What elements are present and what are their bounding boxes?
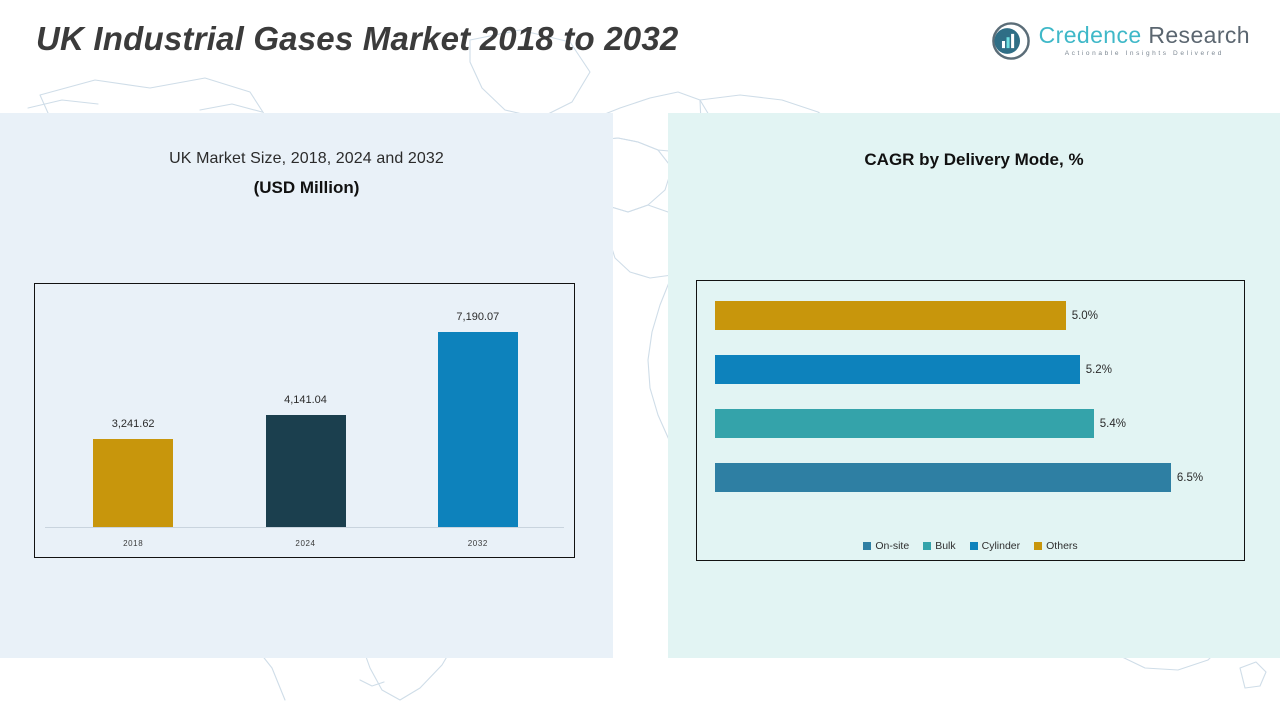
legend-item-on-site[interactable]: On-site [863, 540, 909, 552]
bar-cylinder [715, 355, 1080, 384]
legend-label: Others [1046, 540, 1078, 552]
bar-value-label: 6.5% [1177, 472, 1203, 484]
bar-value-label: 5.4% [1100, 418, 1126, 430]
left-chart-plot-area: 3,241.6220184,141.0420247,190.072032 [35, 284, 574, 557]
bar-value-label: 4,141.04 [284, 394, 327, 406]
bar-row-cylinder: 5.2% [715, 355, 1112, 384]
x-axis-label-2024: 2024 [219, 539, 391, 548]
legend-swatch-icon [923, 542, 931, 550]
bar-bulk [715, 409, 1094, 438]
uk-market-size-chart: 3,241.6220184,141.0420247,190.072032 [34, 283, 575, 558]
left-chart-axis-line [45, 527, 564, 528]
bar-value-label: 5.0% [1072, 310, 1098, 322]
bar-value-label: 3,241.62 [112, 418, 155, 430]
bar-chart-circle-icon [992, 22, 1030, 60]
bar-value-label: 5.2% [1086, 364, 1112, 376]
logo-name-research: Research [1142, 22, 1250, 48]
bar-others [715, 301, 1066, 330]
bar-row-others: 5.0% [715, 301, 1098, 330]
page-title: UK Industrial Gases Market 2018 to 2032 [36, 20, 678, 58]
left-chart-title-line1: UK Market Size, 2018, 2024 and 2032 [0, 150, 613, 168]
logo-text: Credence Research Actionable Insights De… [1039, 24, 1250, 58]
logo-name-credence: Credence [1039, 22, 1142, 48]
legend-swatch-icon [970, 542, 978, 550]
legend-swatch-icon [863, 542, 871, 550]
brand-logo: Credence Research Actionable Insights De… [992, 22, 1250, 60]
infographic-canvas: UK Industrial Gases Market 2018 to 2032 … [0, 0, 1280, 720]
left-chart-title-line2: (USD Million) [0, 178, 613, 198]
x-axis-label-2018: 2018 [47, 539, 219, 548]
bar-2018 [93, 439, 173, 527]
legend-label: Bulk [935, 540, 955, 552]
bar-column: 7,190.07 [438, 311, 518, 527]
header: UK Industrial Gases Market 2018 to 2032 … [0, 0, 1280, 113]
bar-row-on-site: 6.5% [715, 463, 1203, 492]
right-chart-title-text: CAGR by Delivery Mode, % [668, 150, 1280, 170]
cagr-delivery-mode-chart: 5.0%5.2%5.4%6.5% On-siteBulkCylinderOthe… [696, 280, 1245, 561]
bar-2032 [438, 332, 518, 527]
logo-tagline: Actionable Insights Delivered [1039, 51, 1250, 58]
logo-name: Credence Research [1039, 24, 1250, 47]
right-chart-legend: On-siteBulkCylinderOthers [697, 540, 1244, 552]
bar-column: 4,141.04 [266, 394, 346, 527]
legend-label: On-site [875, 540, 909, 552]
bar-value-label: 7,190.07 [456, 311, 499, 323]
bar-2024 [266, 415, 346, 527]
legend-label: Cylinder [982, 540, 1021, 552]
legend-item-cylinder[interactable]: Cylinder [970, 540, 1021, 552]
bar-row-bulk: 5.4% [715, 409, 1126, 438]
bar-on-site [715, 463, 1171, 492]
left-chart-title: UK Market Size, 2018, 2024 and 2032 (USD… [0, 150, 613, 198]
legend-item-bulk[interactable]: Bulk [923, 540, 955, 552]
bar-column: 3,241.62 [93, 418, 173, 527]
right-chart-title: CAGR by Delivery Mode, % [668, 150, 1280, 170]
legend-swatch-icon [1034, 542, 1042, 550]
x-axis-label-2032: 2032 [392, 539, 564, 548]
legend-item-others[interactable]: Others [1034, 540, 1078, 552]
